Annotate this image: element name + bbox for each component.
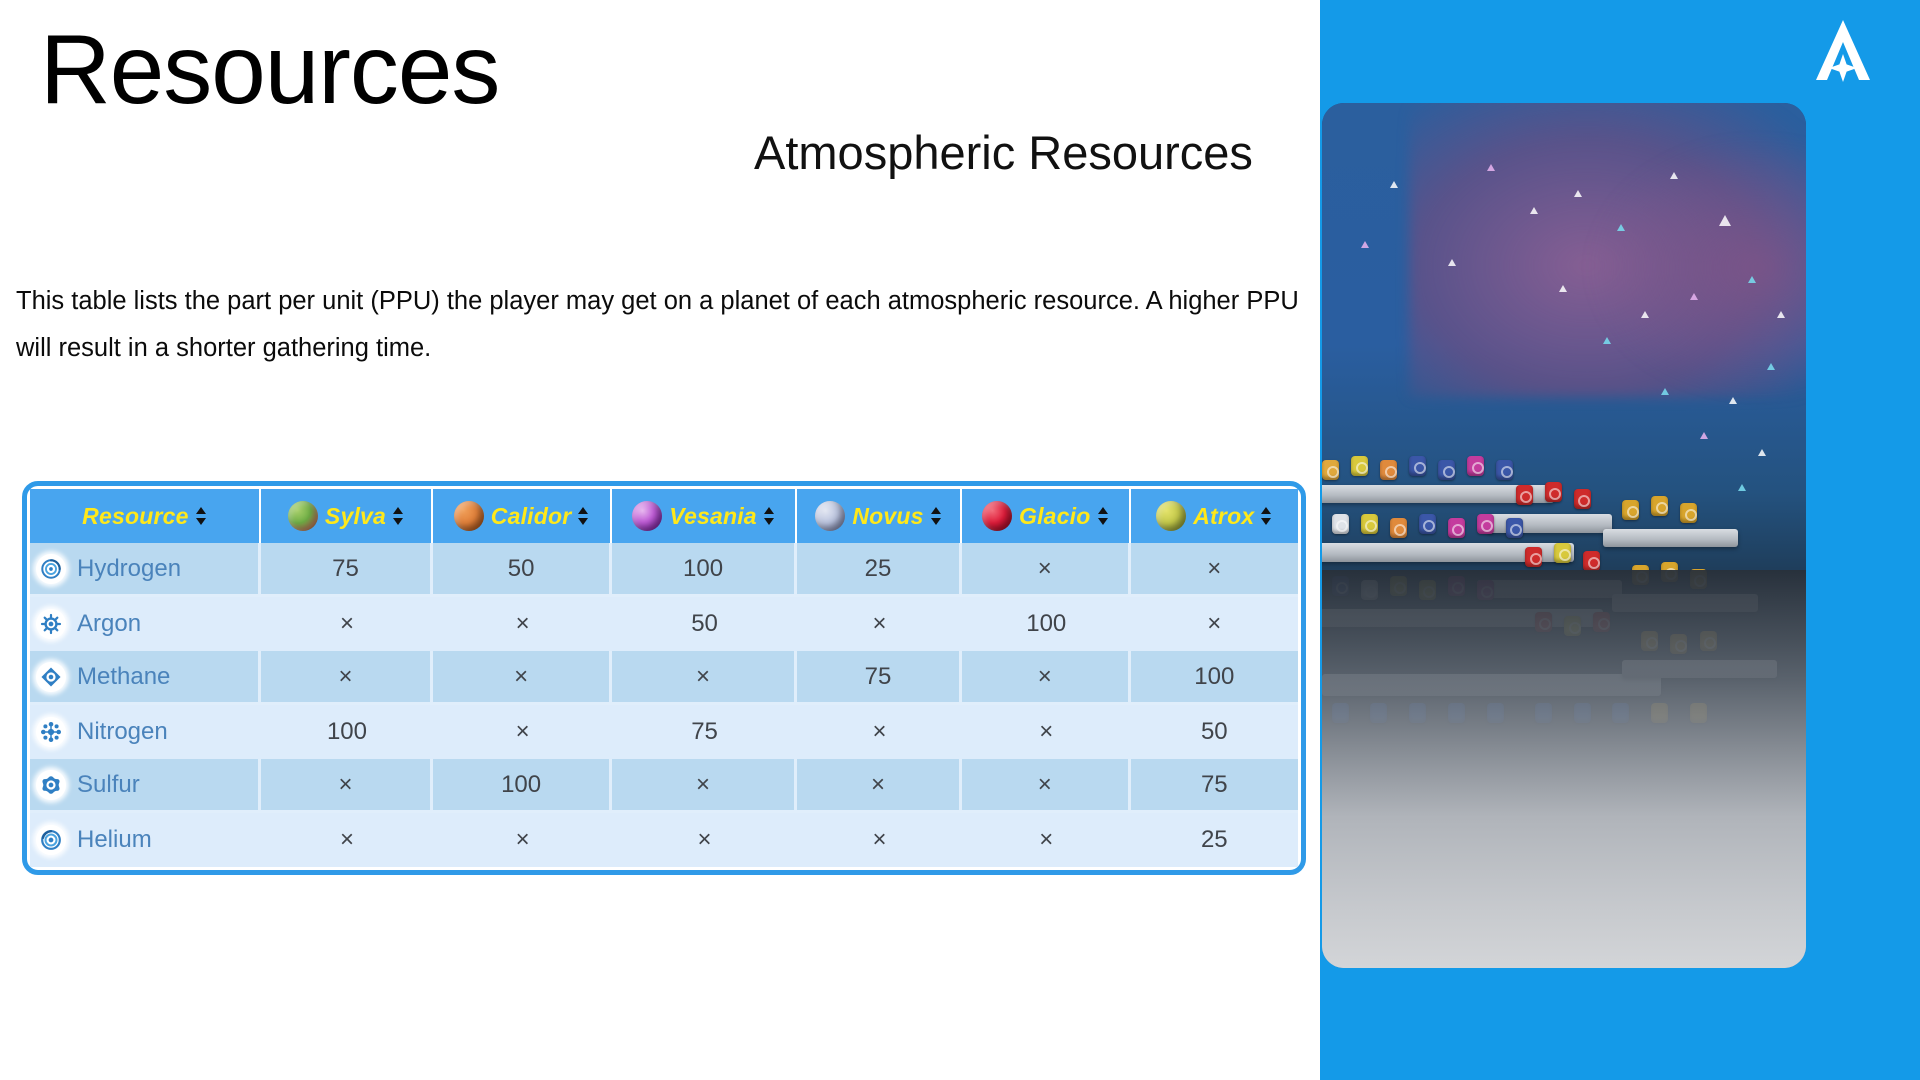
planet-atrox-icon xyxy=(1156,501,1186,531)
astroneer-a-star-logo-icon xyxy=(1810,16,1876,88)
slide-root: Resources Atmospheric Resources This tab… xyxy=(0,0,1920,1080)
column-header-atrox[interactable]: Atrox xyxy=(1131,489,1298,543)
game-screenshot xyxy=(1322,103,1806,968)
cell-value: × xyxy=(962,543,1131,597)
sort-updown-icon[interactable] xyxy=(196,505,207,527)
resource-label: Nitrogen xyxy=(77,718,168,746)
cell-value: 100 xyxy=(433,759,612,813)
column-header-glacio[interactable]: Glacio xyxy=(962,489,1131,543)
cell-value: × xyxy=(433,705,612,759)
cell-value: 50 xyxy=(433,543,612,597)
cell-value: × xyxy=(433,597,612,651)
cell-value: 50 xyxy=(1131,705,1298,759)
content-column: Resources Atmospheric Resources This tab… xyxy=(0,0,1320,1080)
ground-surface xyxy=(1322,570,1806,968)
resource-name-cell: Methane xyxy=(30,651,261,705)
cell-value: × xyxy=(962,705,1131,759)
resources-table-container: Resource Sylva xyxy=(22,481,1306,875)
sort-updown-icon[interactable] xyxy=(393,505,404,527)
column-header-label: Novus xyxy=(852,503,923,530)
planet-novus-icon xyxy=(815,501,845,531)
cell-value: 100 xyxy=(612,543,797,597)
section-title: Atmospheric Resources xyxy=(754,125,1253,180)
cell-value: × xyxy=(612,651,797,705)
table-row: Nitrogen 100 × 75 × × 50 xyxy=(30,705,1298,759)
table-row: Helium × × × × × 25 xyxy=(30,813,1298,867)
table-header-row: Resource Sylva xyxy=(30,489,1298,543)
cell-value: × xyxy=(1131,543,1298,597)
resource-sulfur-icon xyxy=(36,770,66,800)
resource-label: Hydrogen xyxy=(77,555,181,583)
resource-methane-icon xyxy=(36,662,66,692)
page-title: Resources xyxy=(40,18,499,121)
resource-label: Methane xyxy=(77,663,170,691)
planet-vesania-icon xyxy=(632,501,662,531)
cell-value: 75 xyxy=(1131,759,1298,813)
column-header-label: Calidor xyxy=(491,503,572,530)
cell-value: × xyxy=(797,759,962,813)
cell-value: × xyxy=(433,651,612,705)
table-body: Hydrogen 75 50 100 25 × × xyxy=(30,543,1298,867)
cell-value: × xyxy=(797,813,962,867)
cell-value: 100 xyxy=(261,705,433,759)
column-header-label: Resource xyxy=(82,503,188,530)
column-header-label: Atrox xyxy=(1193,503,1254,530)
resource-helium-icon xyxy=(36,825,66,855)
column-header-label: Sylva xyxy=(325,503,386,530)
cell-value: 100 xyxy=(962,597,1131,651)
resource-name-cell: Nitrogen xyxy=(30,705,261,759)
cell-value: × xyxy=(962,813,1131,867)
resource-name-cell: Helium xyxy=(30,813,261,867)
planet-sylva-icon xyxy=(288,501,318,531)
planet-calidor-icon xyxy=(454,501,484,531)
cell-value: × xyxy=(612,759,797,813)
cell-value: 25 xyxy=(1131,813,1298,867)
cell-value: × xyxy=(261,651,433,705)
sort-updown-icon[interactable] xyxy=(1261,505,1272,527)
sort-updown-icon[interactable] xyxy=(764,505,775,527)
cell-value: × xyxy=(261,597,433,651)
resource-hydrogen-icon xyxy=(36,554,66,584)
resource-label: Helium xyxy=(77,826,152,854)
atmospheric-resources-table: Resource Sylva xyxy=(30,489,1298,867)
table-row: Argon × × 50 × 100 × xyxy=(30,597,1298,651)
resource-name-cell: Argon xyxy=(30,597,261,651)
column-header-vesania[interactable]: Vesania xyxy=(612,489,797,543)
cell-value: × xyxy=(797,705,962,759)
column-header-resource[interactable]: Resource xyxy=(30,489,261,543)
description-paragraph: This table lists the part per unit (PPU)… xyxy=(16,278,1306,372)
table-row: Methane × × × 75 × 100 xyxy=(30,651,1298,705)
cell-value: 75 xyxy=(612,705,797,759)
resource-argon-icon xyxy=(36,609,66,639)
cell-value: × xyxy=(261,759,433,813)
table-head: Resource Sylva xyxy=(30,489,1298,543)
planet-glacio-icon xyxy=(982,501,1012,531)
cell-value: × xyxy=(962,651,1131,705)
column-header-label: Vesania xyxy=(669,503,757,530)
column-header-calidor[interactable]: Calidor xyxy=(433,489,612,543)
cell-value: 50 xyxy=(612,597,797,651)
cell-value: × xyxy=(1131,597,1298,651)
sort-updown-icon[interactable] xyxy=(1098,505,1109,527)
cell-value: 75 xyxy=(261,543,433,597)
column-header-novus[interactable]: Novus xyxy=(797,489,962,543)
cell-value: 75 xyxy=(797,651,962,705)
resource-nitrogen-icon xyxy=(36,717,66,747)
sort-updown-icon[interactable] xyxy=(578,505,589,527)
table-row: Sulfur × 100 × × × 75 xyxy=(30,759,1298,813)
resource-name-cell: Hydrogen xyxy=(30,543,261,597)
cell-value: × xyxy=(797,597,962,651)
resource-name-cell: Sulfur xyxy=(30,759,261,813)
right-side-panel xyxy=(1320,0,1920,1080)
column-header-sylva[interactable]: Sylva xyxy=(261,489,433,543)
resource-label: Argon xyxy=(77,610,141,638)
sort-updown-icon[interactable] xyxy=(931,505,942,527)
table-row: Hydrogen 75 50 100 25 × × xyxy=(30,543,1298,597)
cell-value: 100 xyxy=(1131,651,1298,705)
column-header-label: Glacio xyxy=(1019,503,1091,530)
cell-value: × xyxy=(261,813,433,867)
cell-value: × xyxy=(962,759,1131,813)
cell-value: × xyxy=(433,813,612,867)
resource-label: Sulfur xyxy=(77,771,140,799)
cell-value: × xyxy=(612,813,797,867)
cell-value: 25 xyxy=(797,543,962,597)
